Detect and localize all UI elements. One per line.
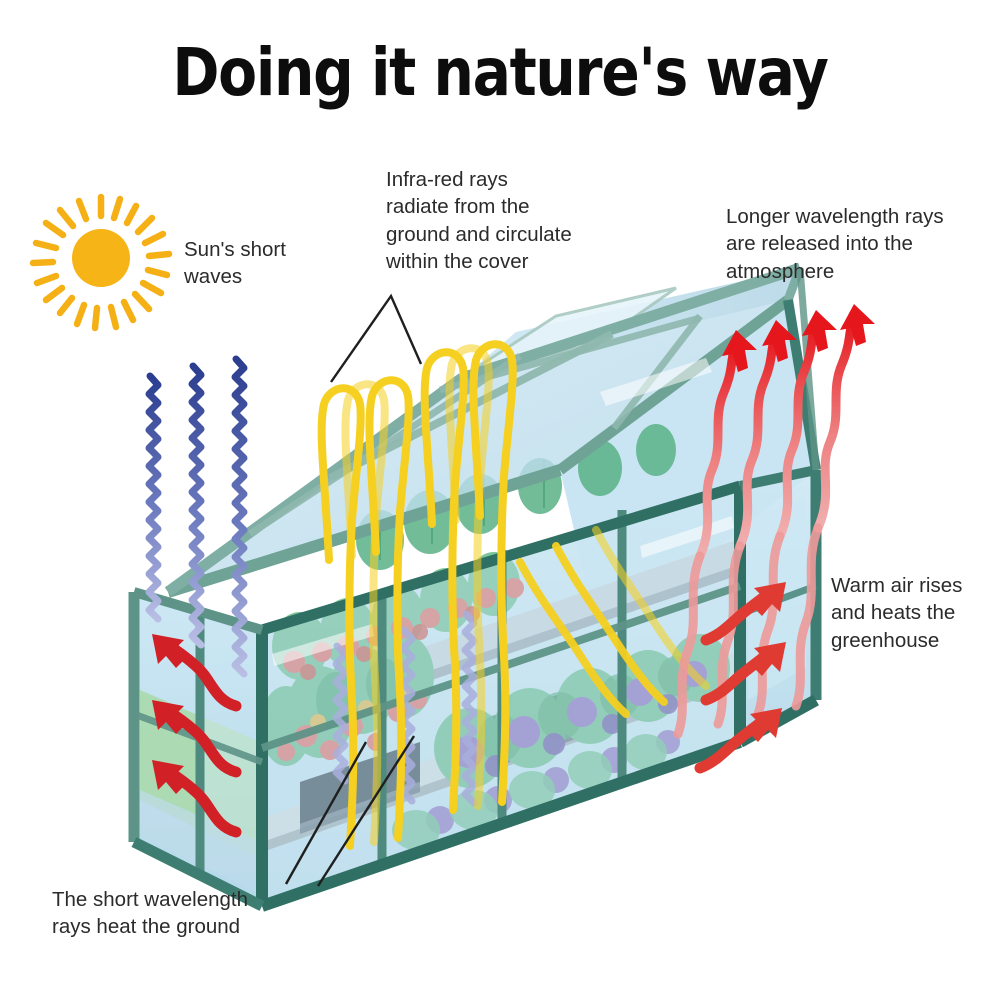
callout-warm-air-rises: Warm air rises and heats the greenhouse [831,572,962,654]
sun-icon [33,197,169,328]
callout-sun-short-waves: Sun's short waves [184,236,286,291]
callout-infrared-rays: Infra-red rays radiate from the ground a… [386,166,572,275]
greenhouse-scene [0,0,1000,1000]
callout-longer-wavelength: Longer wavelength rays are released into… [726,203,944,285]
infographic-canvas: { "title": "Doing it nature's way", "lab… [0,0,1000,1000]
callout-short-wavelength-ground: The short wavelength rays heat the groun… [52,886,248,941]
